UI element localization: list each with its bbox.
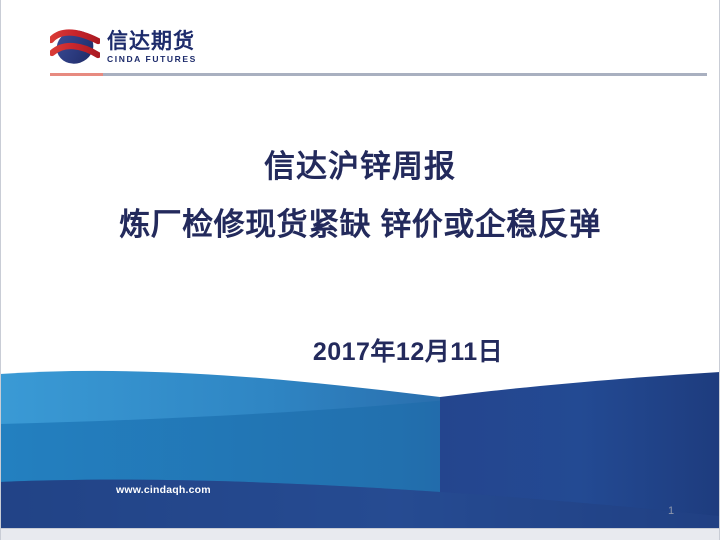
brand-name-cn: 信达期货 [107, 31, 197, 53]
brand-wordmark: 信达期货 CINDA FUTURES [107, 31, 197, 64]
slide-title-secondary: 炼厂检修现货紧缺 锌价或企稳反弹 [0, 206, 720, 245]
slide-page-number: 1 [668, 505, 674, 517]
slide-date-row: 2017年12月11日 [0, 332, 720, 368]
brand-logo: 信达期货 CINDA FUTURES [50, 26, 197, 68]
presentation-slide: 信达期货 CINDA FUTURES 信达沪锌周报 炼厂检修现货紧缺 锌价或企稳… [0, 0, 720, 540]
footer-website-url[interactable]: www.cindaqh.com [116, 484, 211, 496]
cinda-logo-icon [50, 26, 100, 68]
slide-date: 2017年12月11日 [313, 332, 503, 368]
title-block: 信达沪锌周报 炼厂检修现货紧缺 锌价或企稳反弹 [0, 148, 720, 245]
page-bottom-strip [0, 528, 720, 540]
brand-name-en: CINDA FUTURES [107, 55, 197, 64]
header-divider [50, 73, 707, 76]
slide-title-primary: 信达沪锌周报 [0, 148, 720, 187]
footer-wave-graphic [0, 360, 720, 532]
slide-header: 信达期货 CINDA FUTURES [0, 0, 720, 84]
header-divider-accent [50, 73, 103, 76]
header-divider-line [103, 73, 707, 76]
